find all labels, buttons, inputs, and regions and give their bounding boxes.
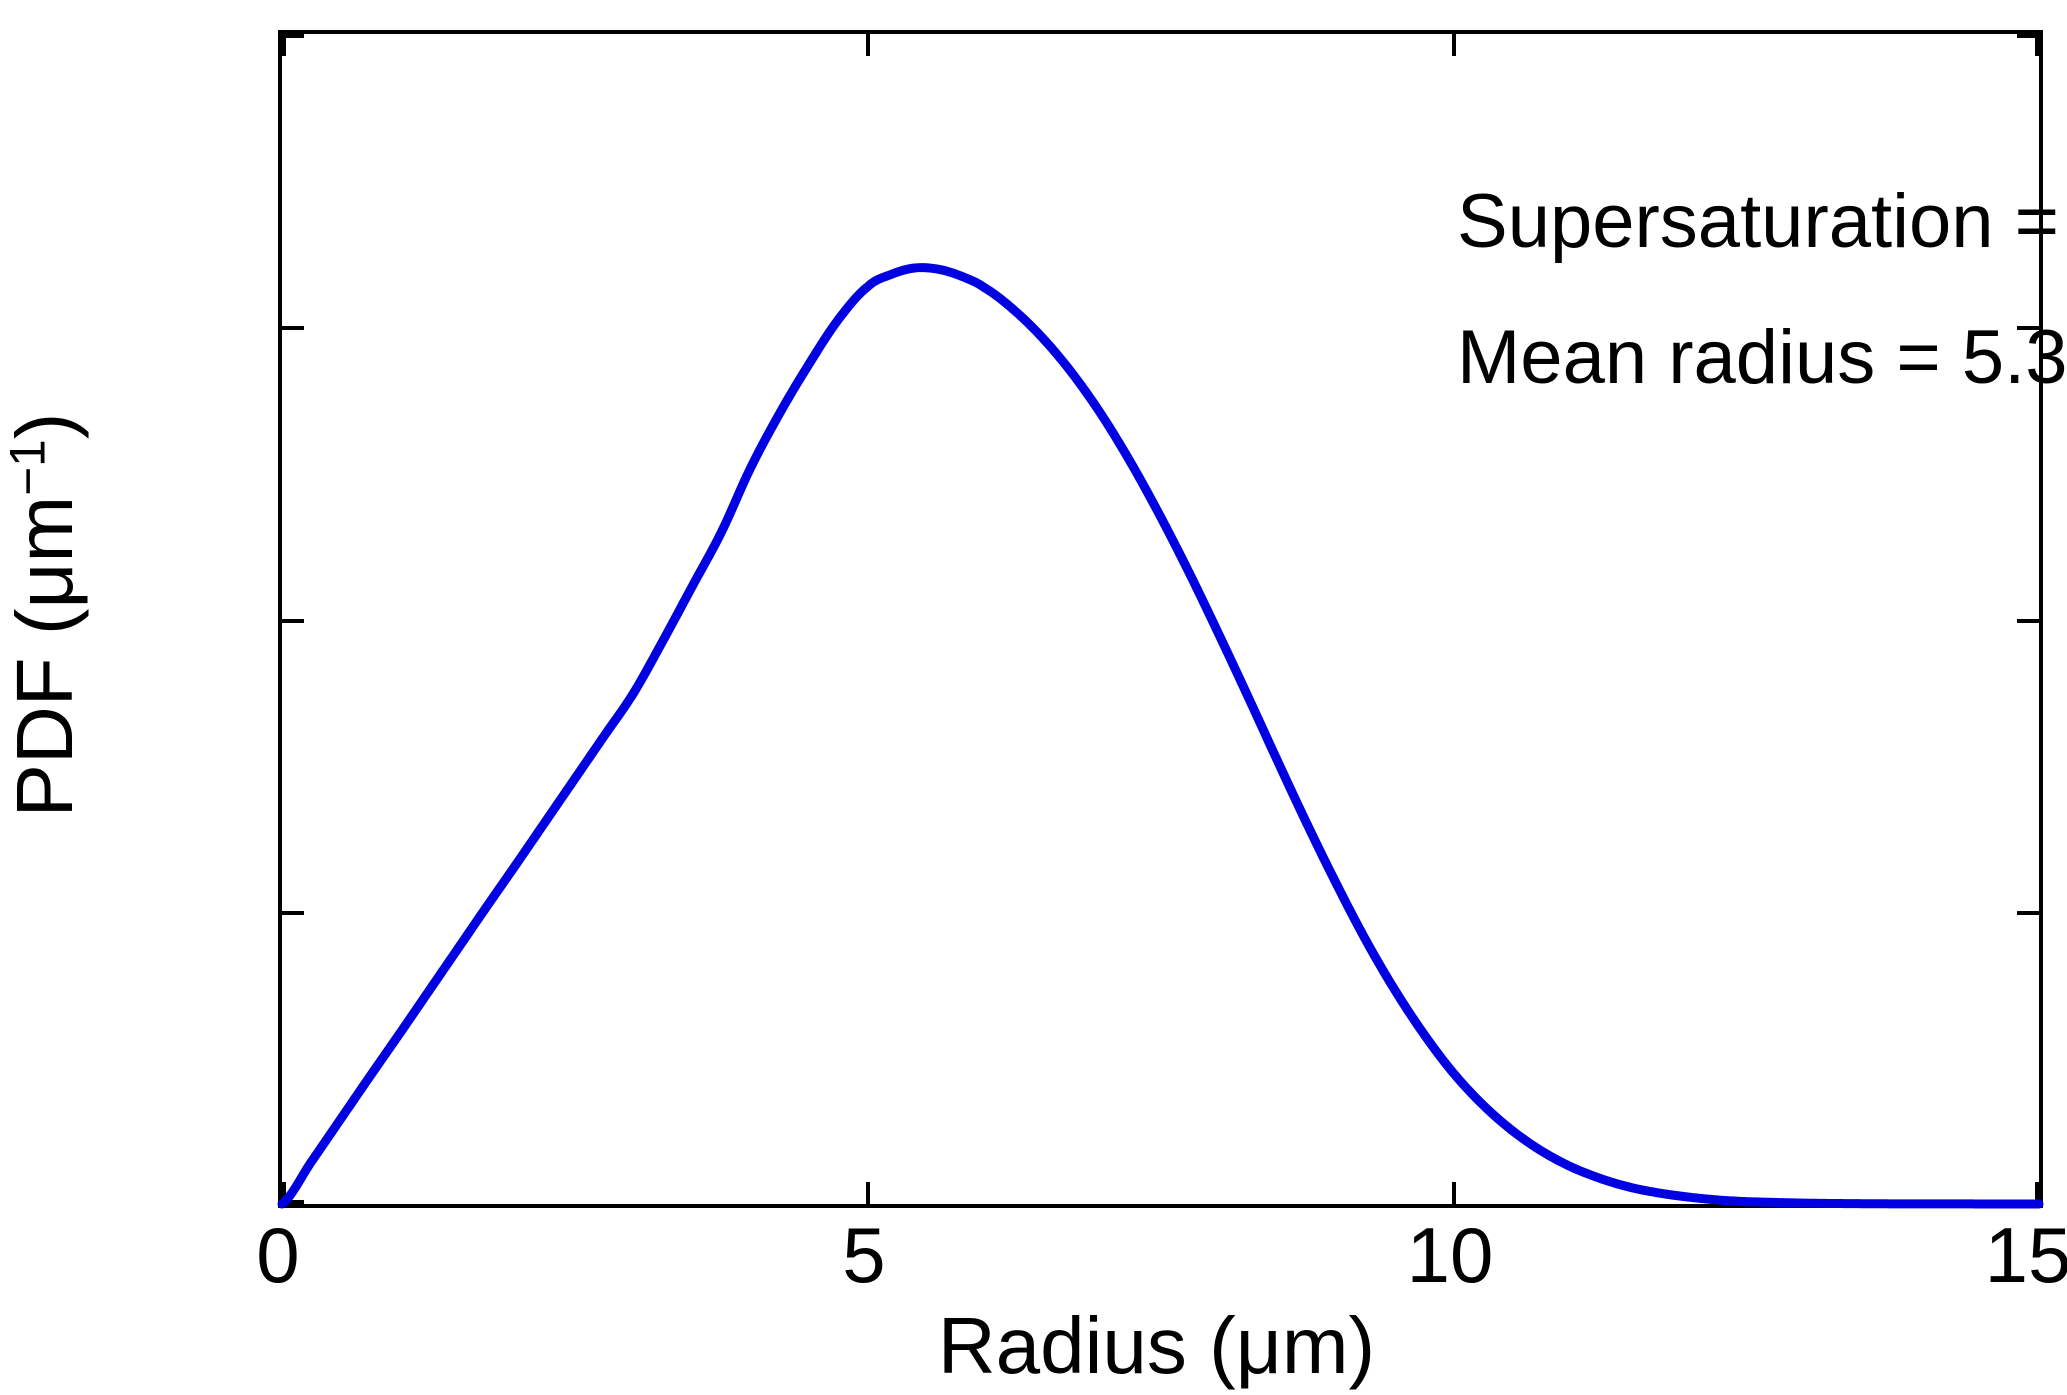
x-tick-label-15: 15 xyxy=(1985,1216,2067,1294)
plot-area: Supersaturation = 0.1% Mean radius = 5.3… xyxy=(278,30,2043,1208)
x-tick-label-0: 0 xyxy=(256,1216,299,1294)
y-axis-title-close: ) xyxy=(0,413,89,440)
annotation-mean-radius: Mean radius = 5.36 μm xyxy=(1457,320,2067,396)
x-axis-title: Radius (μm) xyxy=(278,1302,2035,1390)
x-tick-label-10: 10 xyxy=(1407,1216,1494,1294)
x-tick-label-5: 5 xyxy=(842,1216,885,1294)
annotation-block: Supersaturation = 0.1% Mean radius = 5.3… xyxy=(1457,184,2067,456)
annotation-supersaturation: Supersaturation = 0.1% xyxy=(1457,184,2067,260)
y-axis-title-base: PDF (μm xyxy=(0,496,89,818)
y-axis-title: PDF (μm−1) xyxy=(0,30,90,1200)
y-axis-title-exponent: −1 xyxy=(0,439,55,496)
figure-canvas: PDF (μm−1) 0.2 0.15 0.1 0.05 0 0 5 10 15… xyxy=(0,0,2067,1395)
